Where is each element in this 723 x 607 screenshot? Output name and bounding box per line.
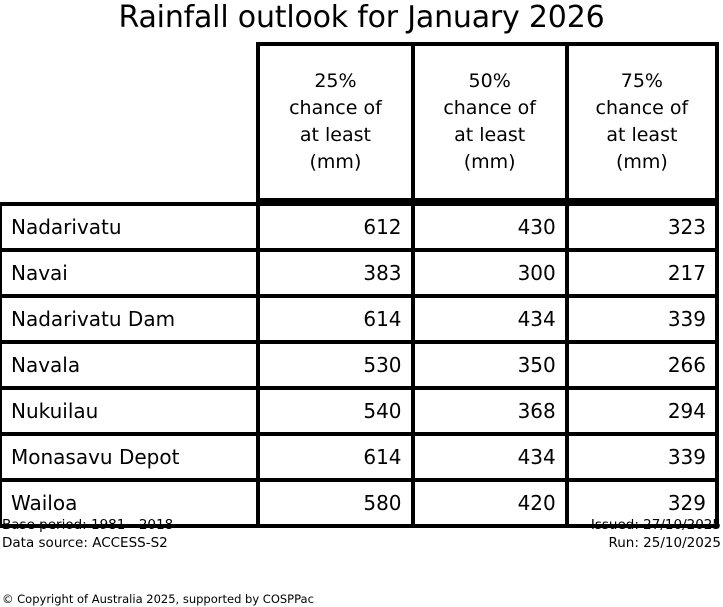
row-label: Navai xyxy=(0,252,256,298)
cell-p25: 383 xyxy=(256,252,410,298)
footer-left: Base period: 1981 - 2018 Data source: AC… xyxy=(2,516,173,552)
cell-p75: 339 xyxy=(565,436,719,482)
column-header-p25-line3: at least xyxy=(300,124,371,146)
cell-p25: 540 xyxy=(256,390,410,436)
column-header-p75-percent: 75% xyxy=(621,70,663,92)
row-label: Navala xyxy=(0,344,256,390)
cell-p75: 294 xyxy=(565,390,719,436)
table-row: Nadarivatu 612 430 323 xyxy=(0,202,719,252)
table-body: Nadarivatu 612 430 323 Navai 383 300 217… xyxy=(0,202,719,528)
cell-p75: 266 xyxy=(565,344,719,390)
cell-p75: 339 xyxy=(565,298,719,344)
footer-right: Issued: 27/10/2025 Run: 25/10/2025 xyxy=(591,516,721,552)
cell-p50: 368 xyxy=(411,390,565,436)
row-label: Monasavu Depot xyxy=(0,436,256,482)
page-title: Rainfall outlook for January 2026 xyxy=(0,0,723,37)
cell-p50: 430 xyxy=(411,202,565,252)
column-header-p25-units: (mm) xyxy=(310,151,362,173)
cell-p50: 420 xyxy=(411,482,565,528)
table-row: Nukuilau 540 368 294 xyxy=(0,390,719,436)
cell-p25: 614 xyxy=(256,436,410,482)
column-header-p50-line2: chance of xyxy=(443,97,536,119)
column-header-location xyxy=(0,42,256,202)
column-header-p50: 50% chance of at least (mm) xyxy=(411,42,565,202)
footer-run-date: Run: 25/10/2025 xyxy=(591,534,721,552)
table-row: Nadarivatu Dam 614 434 339 xyxy=(0,298,719,344)
footer-issued-date: Issued: 27/10/2025 xyxy=(591,516,721,534)
column-header-p75-line3: at least xyxy=(606,124,677,146)
cell-p75: 323 xyxy=(565,202,719,252)
row-label: Nadarivatu Dam xyxy=(0,298,256,344)
copyright-notice: © Copyright of Australia 2025, supported… xyxy=(2,592,314,607)
table-header: 25% chance of at least (mm) 50% chance o… xyxy=(0,42,719,202)
column-header-p25-percent: 25% xyxy=(314,70,356,92)
column-header-p50-percent: 50% xyxy=(469,70,511,92)
column-header-p25-line2: chance of xyxy=(289,97,382,119)
footer-base-period: Base period: 1981 - 2018 xyxy=(2,516,173,534)
cell-p50: 350 xyxy=(411,344,565,390)
cell-p50: 300 xyxy=(411,252,565,298)
row-label: Nukuilau xyxy=(0,390,256,436)
cell-p25: 530 xyxy=(256,344,410,390)
table-header-row: 25% chance of at least (mm) 50% chance o… xyxy=(0,42,719,202)
cell-p75: 217 xyxy=(565,252,719,298)
column-header-p50-units: (mm) xyxy=(464,151,516,173)
column-header-p50-line3: at least xyxy=(454,124,525,146)
table-row: Navala 530 350 266 xyxy=(0,344,719,390)
cell-p25: 580 xyxy=(256,482,410,528)
table-row: Monasavu Depot 614 434 339 xyxy=(0,436,719,482)
column-header-p25: 25% chance of at least (mm) xyxy=(256,42,410,202)
column-header-p75-units: (mm) xyxy=(616,151,668,173)
row-label: Nadarivatu xyxy=(0,202,256,252)
footer-data-source: Data source: ACCESS-S2 xyxy=(2,534,173,552)
cell-p50: 434 xyxy=(411,436,565,482)
cell-p25: 614 xyxy=(256,298,410,344)
column-header-p75-line2: chance of xyxy=(596,97,689,119)
rainfall-outlook-table: 25% chance of at least (mm) 50% chance o… xyxy=(0,42,719,528)
table-row: Navai 383 300 217 xyxy=(0,252,719,298)
column-header-p75: 75% chance of at least (mm) xyxy=(565,42,719,202)
cell-p25: 612 xyxy=(256,202,410,252)
cell-p50: 434 xyxy=(411,298,565,344)
